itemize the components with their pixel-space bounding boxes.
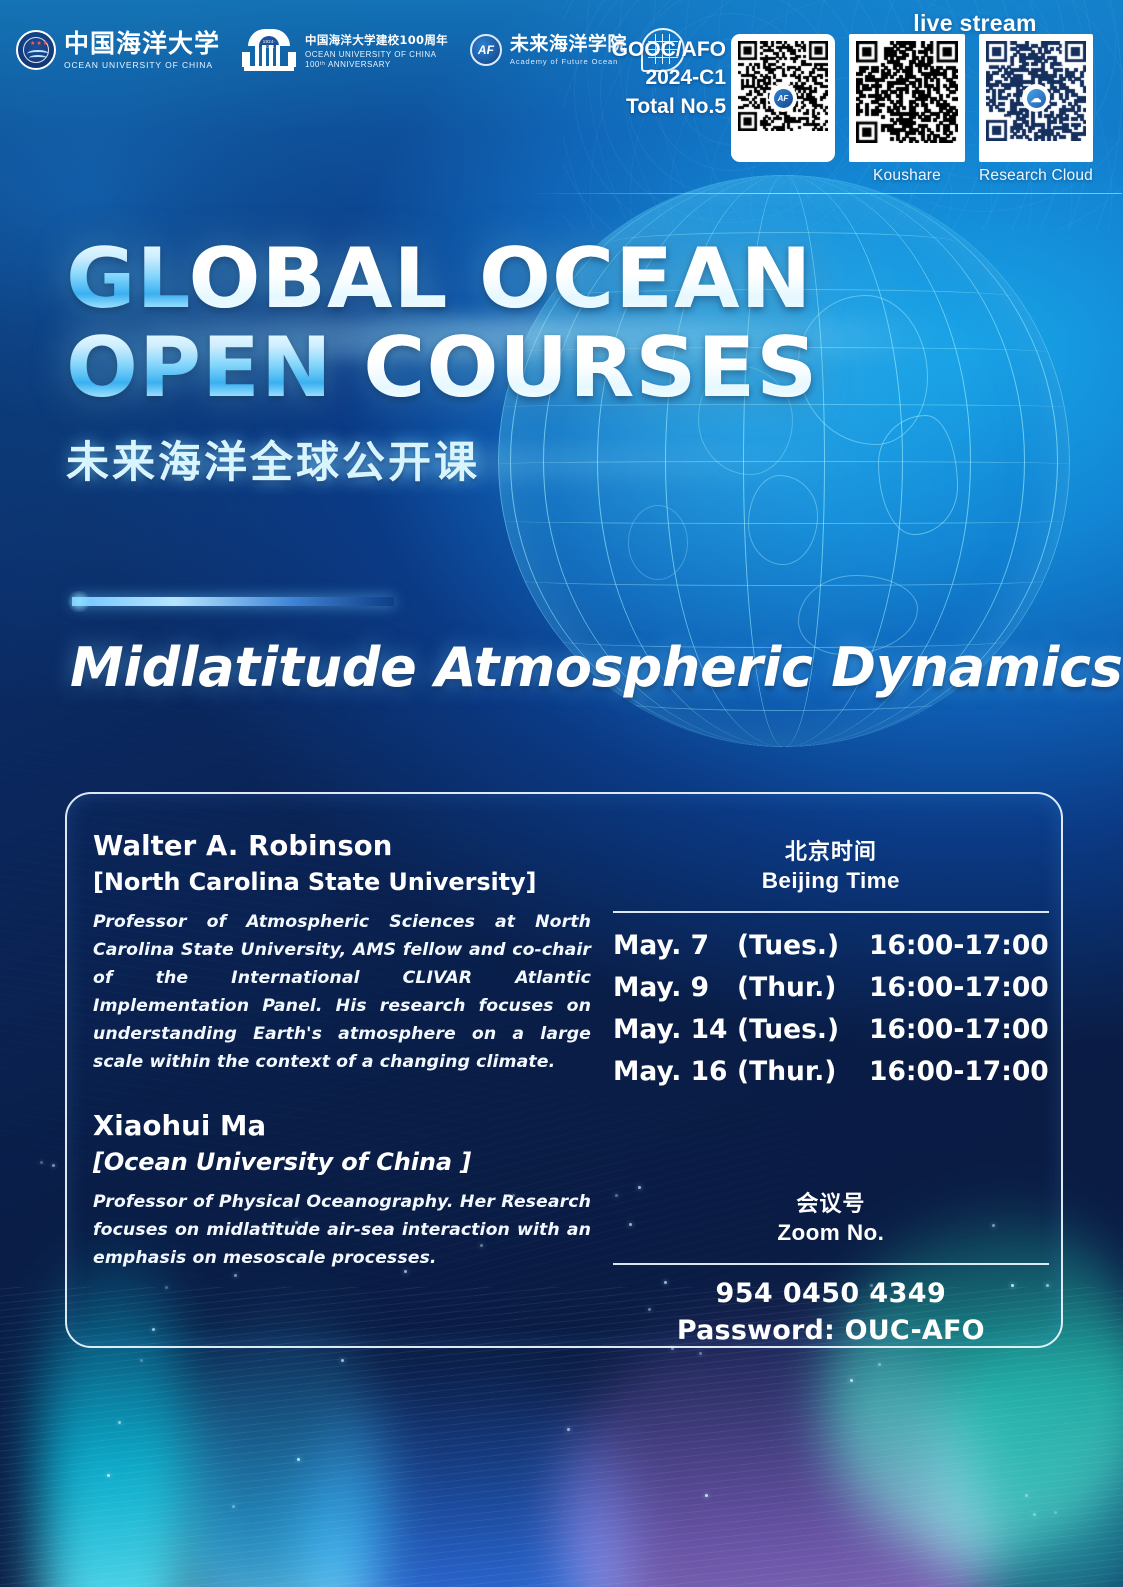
meeting-heading-en: Zoom No.: [613, 1220, 1049, 1246]
qr-code-row: AF Koushare ☁ Research Cloud: [731, 34, 1093, 185]
schedule-date: May. 14: [613, 1009, 737, 1051]
star-dot: [297, 1458, 300, 1461]
main-title-line1: GLOBAL OCEAN: [66, 240, 818, 317]
schedule-list: May. 7(Tues.)16:00-17:00May. 9(Thur.)16:…: [613, 925, 1049, 1092]
schedule-heading-cn: 北京时间: [613, 834, 1049, 866]
star-dot: [40, 1161, 43, 1164]
qr-koushare-wrap[interactable]: Koushare: [849, 34, 965, 185]
ouc-seal-icon: ★★★: [16, 30, 56, 70]
qr-koushare-caption: Koushare: [873, 167, 941, 185]
accent-divider-bar: [72, 597, 394, 606]
schedule-row: May. 16(Thur.)16:00-17:00: [613, 1051, 1049, 1093]
course-title: Midlatitude Atmospheric Dynamics: [70, 636, 1123, 699]
qr-afo[interactable]: AF: [731, 34, 835, 162]
main-title-chinese: 未来海洋全球公开课: [66, 428, 804, 490]
globe-landmass: [878, 415, 958, 535]
speakers-column: Walter A. Robinson [North Carolina State…: [67, 794, 591, 1346]
schedule-row: May. 9(Thur.)16:00-17:00: [613, 967, 1049, 1009]
speaker-2-affiliation: [Ocean University of China ]: [93, 1148, 591, 1176]
main-title-line1-part3: OCEAN: [449, 230, 813, 327]
main-title-line2-part1: OPEN: [66, 319, 333, 416]
schedule-row: May. 7(Tues.)16:00-17:00: [613, 925, 1049, 967]
speaker-1: Walter A. Robinson [North Carolina State…: [93, 830, 591, 1076]
meeting-block: 会议号 Zoom No. 954 0450 4349 Password: OUC…: [613, 1186, 1049, 1346]
speaker-2: Xiaohui Ma [Ocean University of China ] …: [93, 1110, 591, 1272]
meeting-number[interactable]: 954 0450 4349: [613, 1278, 1049, 1309]
globe-latitude-line: [504, 518, 1064, 524]
logo-row: ★★★ 中国海洋大学 OCEAN UNIVERSITY OF CHINA 192…: [16, 28, 685, 72]
main-title-line2-part2: COURSES: [333, 319, 818, 416]
meeting-divider: [613, 1263, 1049, 1265]
series-code: GOOC/AFO: [598, 36, 726, 64]
star-dot: [52, 1164, 55, 1167]
qr-koushare[interactable]: [849, 34, 965, 162]
schedule-row: May. 14(Tues.)16:00-17:00: [613, 1009, 1049, 1051]
qr-afo-center-logo-icon: AF: [771, 86, 795, 110]
schedule-day: (Tues.): [737, 1009, 869, 1051]
series-total-no: Total No.5: [598, 93, 726, 121]
meeting-password[interactable]: Password: OUC-AFO: [613, 1315, 1049, 1346]
anniversary-logo-en2: 100ᵗʰ ANNIVERSARY: [305, 60, 448, 69]
schedule-time: 16:00-17:00: [869, 1051, 1049, 1093]
ouc-logo-en: OCEAN UNIVERSITY OF CHINA: [64, 60, 220, 70]
qr-afo-wrap[interactable]: AF: [731, 34, 835, 167]
schedule-divider: [613, 911, 1049, 913]
qr-research-cloud[interactable]: ☁: [979, 34, 1093, 162]
schedule-day: (Thur.): [737, 967, 869, 1009]
speaker-2-name: Xiaohui Ma: [93, 1110, 591, 1142]
anniversary-logo-en1: OCEAN UNIVERSITY OF CHINA: [305, 50, 448, 59]
poster-root: ★★★ 中国海洋大学 OCEAN UNIVERSITY OF CHINA 192…: [0, 0, 1123, 1587]
meeting-heading-cn: 会议号: [613, 1186, 1049, 1218]
schedule-column: 北京时间 Beijing Time May. 7(Tues.)16:00-17:…: [591, 794, 1083, 1346]
gate-building-icon: 1924-2024: [242, 29, 296, 71]
title-block: GLOBAL OCEAN OPEN COURSES 未来海洋全球公开课: [66, 240, 804, 490]
series-year: 2024-C1: [598, 64, 726, 92]
schedule-day: (Thur.): [737, 1051, 869, 1093]
schedule-date: May. 7: [613, 925, 737, 967]
schedule-date: May. 16: [613, 1051, 737, 1093]
schedule-heading-en: Beijing Time: [613, 868, 1049, 894]
series-code-block: GOOC/AFO 2024-C1 Total No.5: [598, 36, 726, 121]
schedule-time: 16:00-17:00: [869, 967, 1049, 1009]
afo-badge-icon: AF: [470, 34, 502, 66]
speaker-2-bio: Professor of Physical Oceanography. Her …: [93, 1188, 591, 1272]
ouc-logo-cn: 中国海洋大学: [64, 31, 220, 56]
speaker-1-name: Walter A. Robinson: [93, 830, 591, 862]
star-dot: [1054, 1511, 1057, 1514]
star-dot: [1033, 1513, 1036, 1516]
seal-stars-icon: ★★★: [30, 40, 49, 47]
star-dot: [341, 1359, 344, 1362]
anniversary-logo-cn: 中国海洋大学建校100周年: [305, 32, 448, 48]
schedule-day: (Tues.): [737, 925, 869, 967]
seal-wave2-icon: [29, 55, 47, 61]
main-title-line1-part1: GL: [66, 230, 188, 327]
schedule-date: May. 9: [613, 967, 737, 1009]
qr-research-cloud-caption: Research Cloud: [979, 167, 1093, 185]
poster-header: ★★★ 中国海洋大学 OCEAN UNIVERSITY OF CHINA 192…: [0, 0, 1123, 190]
ouc-logo: ★★★ 中国海洋大学 OCEAN UNIVERSITY OF CHINA: [16, 30, 220, 70]
speaker-1-affiliation: [North Carolina State University]: [93, 868, 591, 896]
anniversary-logo: 1924-2024 中国海洋大学建校100周年 OCEAN UNIVERSITY…: [242, 29, 448, 71]
speaker-1-bio: Professor of Atmospheric Sciences at Nor…: [93, 908, 591, 1076]
qr-research-cloud-center-logo-icon: ☁: [1024, 86, 1048, 110]
schedule-time: 16:00-17:00: [869, 1009, 1049, 1051]
star-dot: [699, 1352, 702, 1355]
live-stream-label: live stream: [855, 10, 1095, 37]
star-dot: [118, 1421, 121, 1424]
qr-research-cloud-wrap[interactable]: ☁ Research Cloud: [979, 34, 1093, 185]
info-panel: Walter A. Robinson [North Carolina State…: [65, 792, 1063, 1348]
star-dot: [140, 1359, 143, 1362]
star-dot: [1025, 1494, 1028, 1497]
header-divider: [530, 193, 1122, 194]
main-title-line2: OPEN COURSES: [66, 329, 818, 406]
schedule-time: 16:00-17:00: [869, 925, 1049, 967]
main-title-line1-part2: OBAL: [188, 230, 448, 327]
